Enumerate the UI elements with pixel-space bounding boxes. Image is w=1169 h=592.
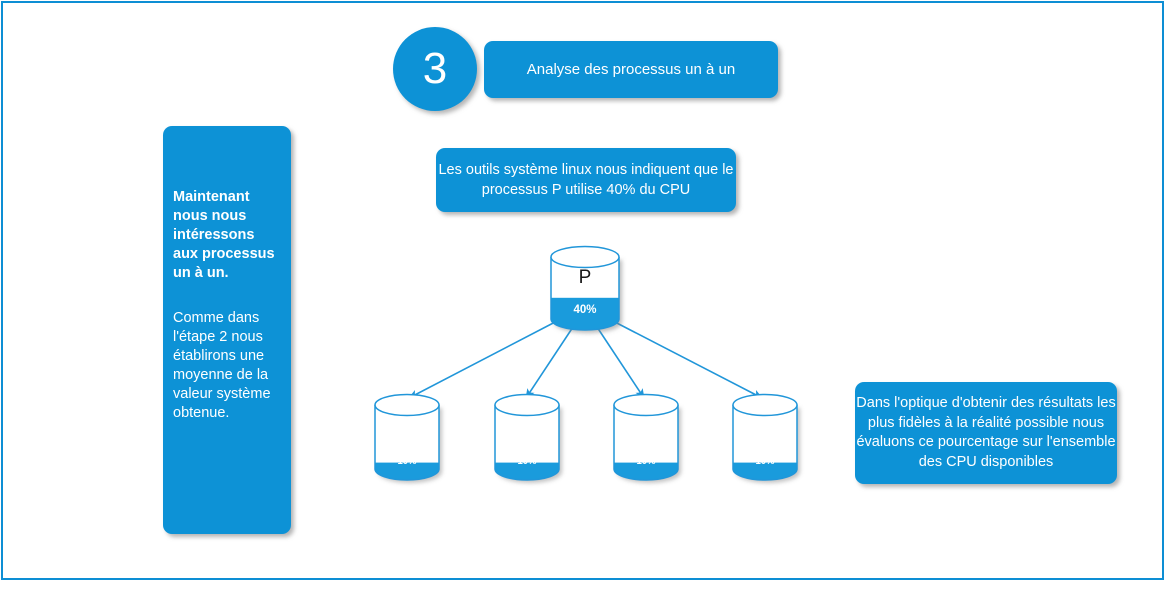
child-cylinder-shape xyxy=(494,394,560,480)
step-number-badge: 3 xyxy=(393,27,477,111)
parent-process-cylinder: P 40% xyxy=(550,246,620,330)
right-note-text: Dans l'optique d'obtenir des résultats l… xyxy=(855,394,1117,472)
arrow-to-child-1 xyxy=(409,320,559,398)
slide-title-text: Analyse des processus un à un xyxy=(484,60,778,79)
left-panel-lead-text: Maintenant nous nous intéressons aux pro… xyxy=(173,188,281,283)
arrow-to-child-4 xyxy=(611,320,762,398)
child-cylinder-shape xyxy=(374,394,440,480)
arrow-to-child-3 xyxy=(597,327,644,398)
child-process-cylinder: 10% xyxy=(732,394,798,480)
top-note-text: Les outils système linux nous indiquent … xyxy=(436,160,736,200)
arrow-to-child-2 xyxy=(526,327,573,398)
parent-cylinder-shape xyxy=(550,246,620,330)
slide-canvas: 3 Analyse des processus un à un Maintena… xyxy=(0,0,1169,592)
child-process-cylinder: 10% xyxy=(613,394,679,480)
top-note-callout: Les outils système linux nous indiquent … xyxy=(436,148,736,212)
step-number-label: 3 xyxy=(423,47,447,91)
child-cylinder-shape xyxy=(613,394,679,480)
right-note-callout: Dans l'optique d'obtenir des résultats l… xyxy=(855,382,1117,484)
slide-title-banner: Analyse des processus un à un xyxy=(484,41,778,98)
child-cylinder-shape xyxy=(732,394,798,480)
child-process-cylinder: 10% xyxy=(374,394,440,480)
left-panel-body-text: Comme dans l'étape 2 nous établirons une… xyxy=(173,309,281,423)
left-description-panel: Maintenant nous nous intéressons aux pro… xyxy=(163,126,291,534)
child-process-cylinder: 10% xyxy=(494,394,560,480)
